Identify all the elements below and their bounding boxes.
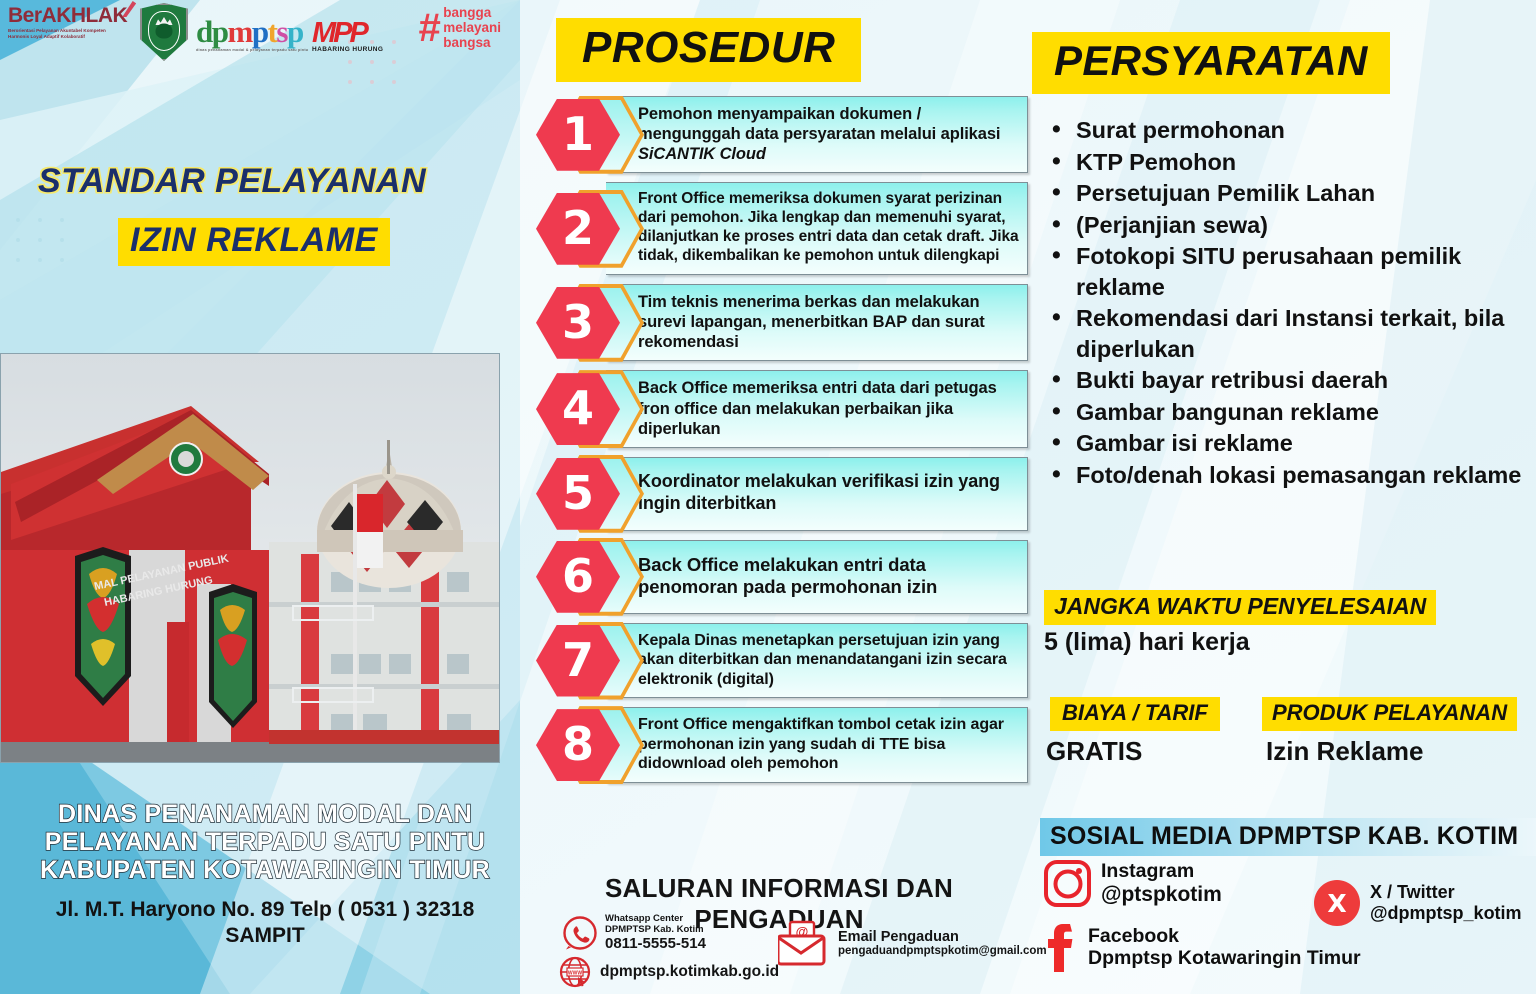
step-badge: 7 bbox=[536, 622, 644, 700]
berakhlak-subtitle: Berorientasi Pelayanan Akuntabel Kompete… bbox=[8, 28, 120, 39]
step-text: Front Office memeriksa dokumen syarat pe… bbox=[638, 190, 1019, 266]
list-item: Bukti bayar retribusi daerah bbox=[1046, 365, 1536, 396]
building-photo: MAL PELAYANAN PUBLIK HABARING HURUNG bbox=[0, 353, 500, 763]
step-text-italic: SiCANTIK Cloud bbox=[638, 145, 766, 163]
x-twitter-icon: X bbox=[1314, 880, 1360, 926]
crown-icon bbox=[156, 17, 173, 25]
email-icon: @ bbox=[778, 920, 830, 966]
hashtag-icon: # bbox=[418, 10, 440, 46]
poster-title-line1: STANDAR PELAYANAN bbox=[38, 162, 488, 201]
bangga-line3: bangsa bbox=[443, 35, 501, 50]
procedure-step: 7 Kepala Dinas menetapkan persetujuan iz… bbox=[532, 623, 1028, 699]
requirements-heading: PERSYARATAN bbox=[1032, 32, 1390, 94]
berakhlak-akhlak: AKHLAK bbox=[42, 4, 128, 27]
department-address: Jl. M.T. Haryono No. 89 Telp ( 0531 ) 32… bbox=[10, 897, 520, 950]
step-text: Back Office memeriksa entri data dari pe… bbox=[638, 378, 1019, 438]
procedure-step: 2 Front Office memeriksa dokumen syarat … bbox=[532, 182, 1028, 275]
step-text: Front Office mengaktifkan tombol cetak i… bbox=[638, 715, 1019, 774]
step-bar: Front Office mengaktifkan tombol cetak i… bbox=[606, 707, 1028, 783]
twitter-handle: @dpmptsp_kotim bbox=[1370, 903, 1522, 924]
x-glyph: X bbox=[1327, 889, 1346, 918]
step-bar: Back Office melakukan entri data penomor… bbox=[606, 540, 1028, 614]
facebook-label: Facebook bbox=[1088, 926, 1361, 948]
fee-label: BIAYA / TARIF bbox=[1050, 697, 1220, 731]
bangga-melayani-bangsa-logo: # bangga melayani bangsa bbox=[418, 5, 501, 50]
step-bar: Koordinator melakukan verifikasi izin ya… bbox=[606, 457, 1028, 531]
step-text: Tim teknis menerima berkas dan melakukan… bbox=[638, 292, 1019, 352]
address-line1: Jl. M.T. Haryono No. 89 Telp ( 0531 ) 32… bbox=[10, 897, 520, 923]
step-text: Koordinator melakukan verifikasi izin ya… bbox=[638, 471, 1019, 515]
step-bar: Kepala Dinas menetapkan persetujuan izin… bbox=[606, 623, 1028, 699]
email-label: Email Pengaduan bbox=[838, 929, 1047, 945]
whatsapp-channel[interactable]: Whatsapp Center DPMPTSP Kab. Kotim 0811-… bbox=[562, 914, 706, 953]
step-bar: Tim teknis menerima berkas dan melakukan… bbox=[606, 284, 1028, 361]
step-badge: 6 bbox=[536, 538, 644, 616]
svg-text:WWW: WWW bbox=[568, 971, 582, 977]
step-text-main: Pemohon menyampaikan dokumen / mengungga… bbox=[638, 105, 1000, 143]
product-value: Izin Reklame bbox=[1266, 736, 1424, 767]
list-item: Rekomendasi dari Instansi terkait, bila … bbox=[1046, 303, 1536, 364]
twitter-label: X / Twitter bbox=[1370, 882, 1522, 903]
list-item: Fotokopi SITU perusahaan pemilik reklame bbox=[1046, 241, 1536, 302]
step-number: 3 bbox=[562, 299, 594, 345]
social-heading: SOSIAL MEDIA DPMPTSP KAB. KOTIM bbox=[1040, 818, 1536, 856]
list-item: Persetujuan Pemilik Lahan bbox=[1046, 178, 1536, 209]
step-number: 7 bbox=[562, 637, 594, 683]
bangga-line1: bangga bbox=[443, 5, 501, 20]
requirements-column: PERSYARATAN Surat permohonan KTP Pemohon… bbox=[1026, 0, 1536, 994]
list-item: Surat permohonan bbox=[1046, 115, 1536, 146]
duration-value: 5 (lima) hari kerja bbox=[1044, 628, 1250, 657]
website-channel[interactable]: WWW dpmptsp.kotimkab.go.id bbox=[558, 955, 779, 989]
whatsapp-number: 0811-5555-514 bbox=[605, 935, 706, 952]
poster-root: BerAKHLAK Berorientasi Pelayanan Akuntab… bbox=[0, 0, 1536, 994]
facebook-entry[interactable]: Facebook Dpmptsp Kotawaringin Timur bbox=[1044, 922, 1361, 974]
step-number: 5 bbox=[562, 470, 594, 516]
step-number: 6 bbox=[562, 553, 594, 599]
instagram-icon bbox=[1044, 860, 1091, 907]
step-bar: Pemohon menyampaikan dokumen / mengungga… bbox=[606, 96, 1028, 173]
step-badge: 1 bbox=[536, 96, 644, 174]
instagram-handle: @ptspkotim bbox=[1101, 883, 1222, 907]
step-bar: Back Office memeriksa entri data dari pe… bbox=[606, 370, 1028, 447]
step-badge: 4 bbox=[536, 370, 644, 448]
step-badge: 8 bbox=[536, 706, 644, 784]
berakhlak-ber: Ber bbox=[8, 4, 42, 27]
step-badge: 2 bbox=[536, 190, 644, 268]
shield-icon bbox=[140, 3, 188, 61]
mpp-wordmark: MPP bbox=[312, 22, 383, 45]
dpmptsp-wordmark: dpmptsp bbox=[196, 14, 308, 50]
procedure-step: 8 Front Office mengaktifkan tombol cetak… bbox=[532, 707, 1028, 783]
procedure-step: 4 Back Office memeriksa entri data dari … bbox=[532, 370, 1028, 447]
address-line2: SAMPIT bbox=[10, 923, 520, 949]
product-label: PRODUK PELAYANAN bbox=[1262, 697, 1517, 731]
globe-icon: WWW bbox=[558, 955, 592, 989]
instagram-entry[interactable]: Instagram @ptspkotim bbox=[1044, 860, 1222, 907]
list-item: Gambar isi reklame bbox=[1046, 428, 1536, 459]
step-badge: 5 bbox=[536, 455, 644, 533]
step-number: 8 bbox=[562, 721, 594, 767]
kabupaten-seal-logo bbox=[140, 3, 188, 61]
whatsapp-line2: DPMPTSP Kab. Kotim bbox=[605, 925, 706, 936]
list-item: Foto/denah lokasi pemasangan reklame bbox=[1046, 460, 1536, 491]
list-item: Gambar bangunan reklame bbox=[1046, 397, 1536, 428]
mpp-logo: MPP HABARING HURUNG bbox=[312, 22, 383, 53]
requirements-list: Surat permohonan KTP Pemohon Persetujuan… bbox=[1046, 115, 1536, 492]
whatsapp-icon bbox=[562, 915, 598, 951]
step-badge: 3 bbox=[536, 284, 644, 362]
step-number: 1 bbox=[562, 111, 594, 157]
procedure-step: 3 Tim teknis menerima berkas dan melakuk… bbox=[532, 284, 1028, 361]
procedure-step: 1 Pemohon menyampaikan dokumen / mengung… bbox=[532, 96, 1028, 173]
instagram-label: Instagram bbox=[1101, 861, 1222, 883]
email-address: pengaduandpmptspkotim@gmail.com bbox=[838, 945, 1047, 957]
mpp-subtitle: HABARING HURUNG bbox=[312, 46, 383, 53]
step-text: Kepala Dinas menetapkan persetujuan izin… bbox=[638, 631, 1019, 690]
step-number: 4 bbox=[562, 385, 594, 431]
facebook-icon bbox=[1044, 922, 1078, 974]
fee-value: GRATIS bbox=[1046, 736, 1142, 767]
step-text: Back Office melakukan entri data penomor… bbox=[638, 554, 1019, 599]
dpmptsp-logo: dpmptsp dinas penanaman modal & pelayana… bbox=[196, 14, 308, 52]
procedure-heading: PROSEDUR bbox=[556, 18, 861, 82]
list-item: KTP Pemohon bbox=[1046, 147, 1536, 178]
website-url: dpmptsp.kotimkab.go.id bbox=[600, 963, 779, 981]
email-channel[interactable]: @ Email Pengaduan pengaduandpmptspkotim@… bbox=[778, 920, 1047, 966]
list-item: (Perjanjian sewa) bbox=[1046, 210, 1536, 241]
bangga-line2: melayani bbox=[443, 20, 501, 35]
procedure-step: 6 Back Office melakukan entri data penom… bbox=[532, 540, 1028, 614]
procedure-step-list: 1 Pemohon menyampaikan dokumen / mengung… bbox=[532, 96, 1028, 792]
procedure-step: 5 Koordinator melakukan verifikasi izin … bbox=[532, 457, 1028, 531]
step-text: Pemohon menyampaikan dokumen / mengungga… bbox=[638, 104, 1019, 164]
tree-icon bbox=[156, 23, 173, 38]
berakhlak-wordmark: BerAKHLAK bbox=[8, 4, 127, 28]
dpmptsp-subtitle: dinas penanaman modal & pelayanan terpad… bbox=[196, 48, 308, 52]
step-bar: Front Office memeriksa dokumen syarat pe… bbox=[606, 182, 1028, 275]
duration-label: JANGKA WAKTU PENYELESAIAN bbox=[1044, 590, 1436, 625]
step-number: 2 bbox=[562, 205, 594, 251]
berakhlak-logo: BerAKHLAK Berorientasi Pelayanan Akuntab… bbox=[8, 4, 127, 39]
department-name: DINAS PENANAMAN MODAL DAN PELAYANAN TERP… bbox=[10, 800, 520, 884]
poster-title-line2: IZIN REKLAME bbox=[118, 218, 390, 266]
procedure-column: PROSEDUR 1 Pemohon menyampaikan dokumen … bbox=[528, 0, 1028, 994]
bangga-wordmark: bangga melayani bangsa bbox=[443, 5, 501, 50]
twitter-entry[interactable]: X X / Twitter @dpmptsp_kotim bbox=[1314, 880, 1522, 926]
logo-bar: BerAKHLAK Berorientasi Pelayanan Akuntab… bbox=[0, 0, 530, 78]
facebook-handle: Dpmptsp Kotawaringin Timur bbox=[1088, 948, 1361, 970]
